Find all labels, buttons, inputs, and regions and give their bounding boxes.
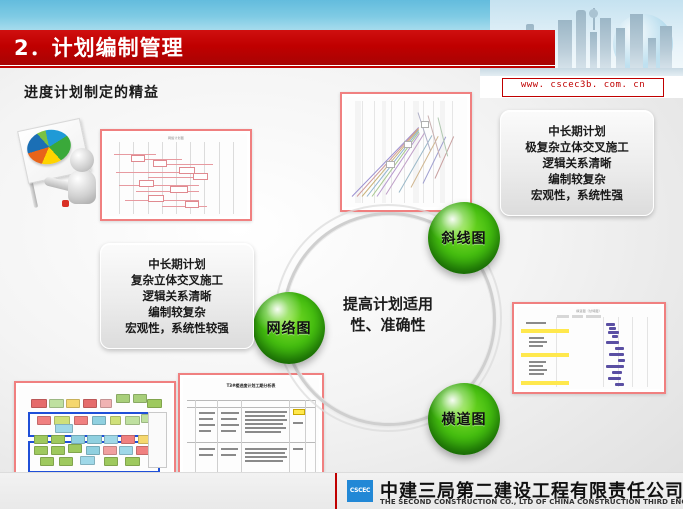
callout-diagonal-description-text: 中长期计划 极复杂立体交叉施工 逻辑关系清晰 编制较复杂 宏观性，系统性强 [525, 123, 629, 203]
node-network-diagram[interactable]: 网络图 [253, 292, 325, 364]
banner-building [600, 18, 611, 68]
thumbnail-network-schedule[interactable]: 网络计划图 [100, 129, 252, 221]
cycle-center-text: 提高计划适用性、准确性 [336, 294, 440, 336]
clipart-body [68, 170, 96, 204]
footer-accent-bar [335, 473, 337, 509]
callout-network-description: 中长期计划 复杂立体交叉施工 逻辑关系清晰 编制较复杂 宏观性，系统性较强 [100, 243, 254, 349]
node-diagonal-chart[interactable]: 斜线图 [428, 202, 500, 274]
banner-building [590, 32, 597, 68]
thumbnail-network-schedule-title: 网络计划图 [105, 136, 247, 140]
banner-building [660, 26, 672, 68]
thumbnail-color-network-canvas: 彩色网络图 [19, 386, 171, 480]
callout-network-description-text: 中长期计划 复杂立体交叉施工 逻辑关系清晰 编制较复杂 宏观性，系统性较强 [125, 256, 229, 336]
title-underline [0, 66, 555, 68]
banner-building [616, 28, 625, 68]
slide-canvas: 2．计划编制管理 进度计划制定的精益 www. cscec3b. com. cn… [0, 0, 683, 509]
thumbnail-analysis-table-canvas: T3#楼进度计划工期分析表 [183, 378, 319, 482]
banner-ground [480, 68, 683, 76]
website-url-bar: www. cscec3b. com. cn [480, 76, 683, 98]
thumbnail-gantt-chart-canvas: 横道图（甘特图） [517, 307, 661, 389]
thumbnail-color-network-legend [148, 412, 167, 468]
thumbnail-gantt-chart[interactable]: 横道图（甘特图） [512, 302, 666, 394]
thumbnail-gantt-chart-title: 横道图（甘特图） [517, 309, 661, 313]
node-diagonal-chart-label: 斜线图 [442, 228, 487, 248]
banner-building [576, 10, 586, 68]
header-blue-strip [0, 0, 490, 30]
clipart-head [70, 148, 94, 172]
node-gantt-chart-label: 横道图 [442, 409, 487, 429]
page-subtitle: 进度计划制定的精益 [24, 82, 159, 102]
slide-footer: CSCEC 中建三局第二建设工程有限责任公司 THE SECOND CONSTR… [0, 472, 683, 509]
banner-building [630, 14, 643, 68]
node-gantt-chart[interactable]: 横道图 [428, 383, 500, 455]
thumbnail-network-schedule-canvas: 网络计划图 [105, 134, 247, 216]
company-name-en: THE SECOND CONSTRUCTION CO., LTD OF CHIN… [380, 498, 683, 506]
thumbnail-color-network[interactable]: 彩色网络图 [14, 381, 176, 485]
company-logo: CSCEC [347, 480, 373, 502]
clipart-red-marker [62, 200, 69, 207]
website-url-frame: www. cscec3b. com. cn [502, 78, 664, 97]
thumbnail-diagonal-chart-canvas [345, 97, 467, 207]
page-title: 2．计划编制管理 [14, 32, 184, 64]
callout-diagonal-description: 中长期计划 极复杂立体交叉施工 逻辑关系清晰 编制较复杂 宏观性，系统性强 [500, 110, 654, 216]
section-title-bar: 2．计划编制管理 [0, 30, 555, 65]
website-url-text: www. cscec3b. com. cn [503, 80, 663, 90]
banner-tower-sphere [589, 9, 598, 18]
thumbnail-analysis-table-note [189, 390, 313, 393]
banner-building [648, 38, 656, 68]
presenter-clipart [18, 118, 104, 210]
banner-building [558, 20, 572, 68]
thumbnail-diagonal-chart[interactable] [340, 92, 472, 212]
node-network-diagram-label: 网络图 [267, 318, 312, 338]
